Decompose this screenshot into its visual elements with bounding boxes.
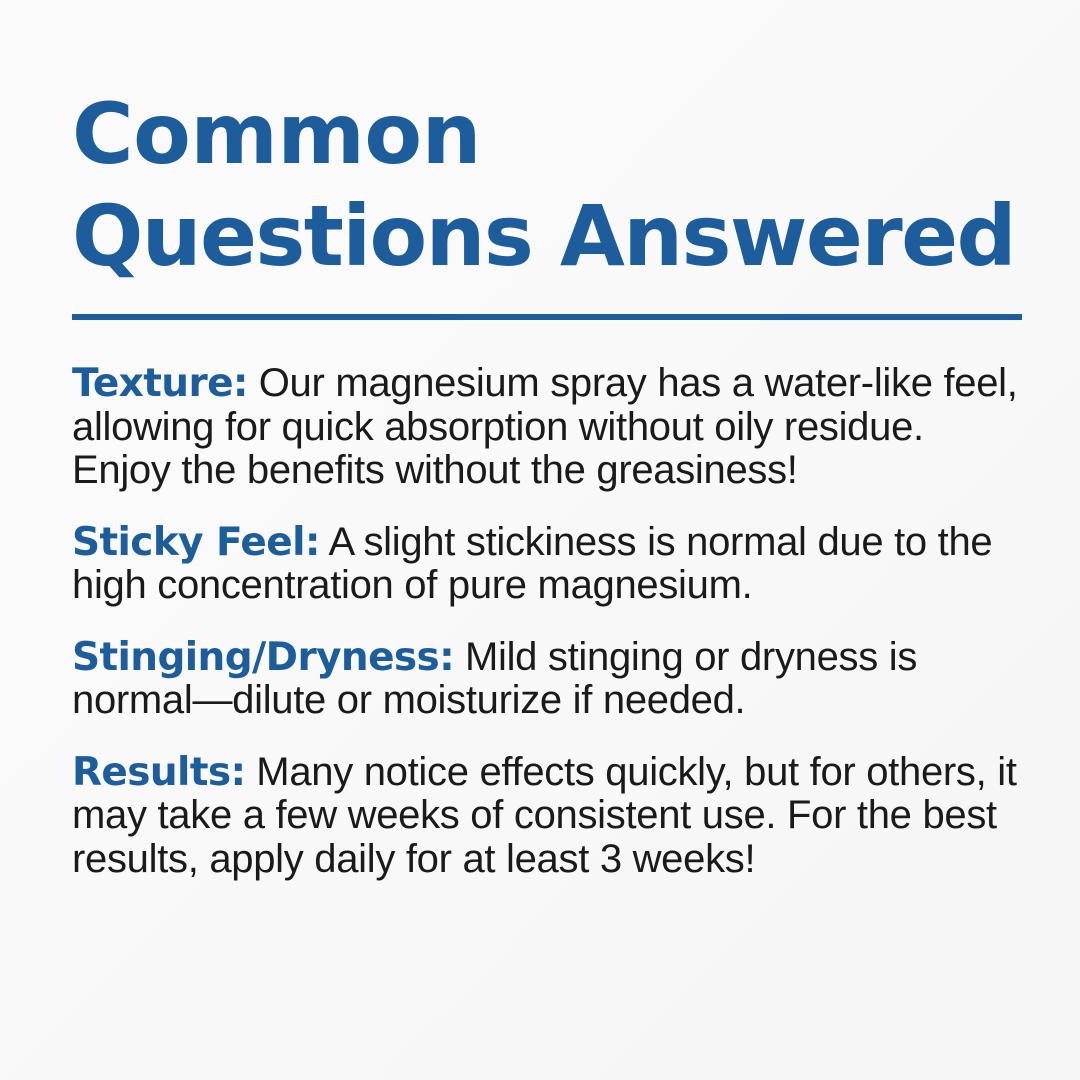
list-item: Texture: Our magnesium spray has a water…: [72, 362, 1020, 493]
list-item: Stinging/Dryness: Mild stinging or dryne…: [72, 636, 1020, 723]
faq-entry-texture: Texture: Our magnesium spray has a water…: [72, 362, 1020, 493]
page-title-line-2: Questions Answered: [72, 194, 1022, 278]
faq-label: Sticky Feel:: [72, 520, 320, 565]
faq-entry-stinging-dryness: Stinging/Dryness: Mild stinging or dryne…: [72, 636, 1020, 723]
faq-entry-sticky-feel: Sticky Feel: A slight stickiness is norm…: [72, 521, 1020, 608]
faq-label: Results:: [72, 750, 245, 795]
page-title-line-1: Common: [72, 92, 1022, 176]
list-item: Results: Many notice effects quickly, bu…: [72, 751, 1020, 882]
card-content: Common Questions Answered Texture: Our m…: [72, 92, 1022, 881]
list-item: Sticky Feel: A slight stickiness is norm…: [72, 521, 1020, 608]
faq-entry-results: Results: Many notice effects quickly, bu…: [72, 751, 1020, 882]
page-title: Common Questions Answered: [72, 92, 1022, 278]
faq-label: Stinging/Dryness:: [72, 635, 454, 680]
faq-card: Common Questions Answered Texture: Our m…: [0, 0, 1080, 1080]
faq-label: Texture:: [72, 361, 248, 406]
title-divider: [72, 314, 1022, 320]
faq-list: Texture: Our magnesium spray has a water…: [72, 362, 1022, 881]
